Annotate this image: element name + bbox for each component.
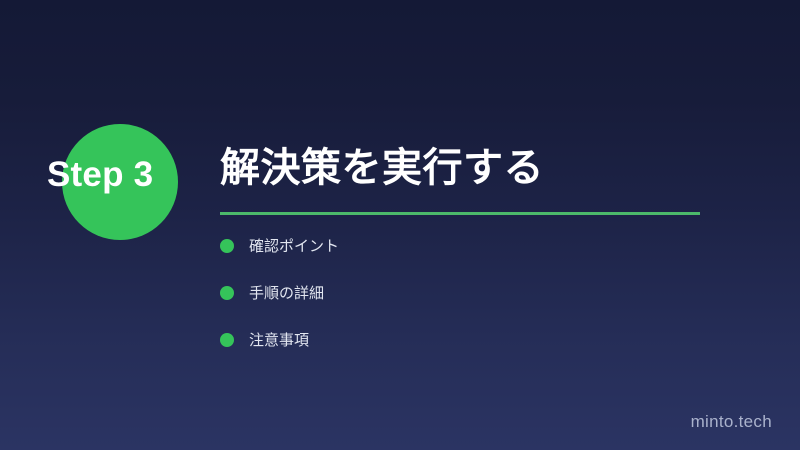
- bullet-label: 手順の詳細: [249, 286, 324, 301]
- bullet-label: 注意事項: [249, 333, 309, 348]
- bullet-dot-icon: [220, 333, 234, 347]
- slide-title: 解決策を実行する: [220, 143, 740, 193]
- step-badge-label: Step 3: [47, 152, 153, 198]
- title-block: 解決策を実行する: [220, 143, 740, 193]
- bullet-list: 確認ポイント 手順の詳細 注意事項: [220, 239, 339, 380]
- list-item: 注意事項: [220, 333, 339, 347]
- title-divider: [220, 212, 700, 215]
- presentation-slide: Step 3 解決策を実行する 確認ポイント 手順の詳細 注意事項 minto.…: [0, 0, 800, 450]
- bullet-label: 確認ポイント: [249, 239, 339, 254]
- bullet-dot-icon: [220, 239, 234, 253]
- bullet-dot-icon: [220, 286, 234, 300]
- list-item: 確認ポイント: [220, 239, 339, 253]
- footer-brand: minto.tech: [691, 412, 772, 432]
- list-item: 手順の詳細: [220, 286, 339, 300]
